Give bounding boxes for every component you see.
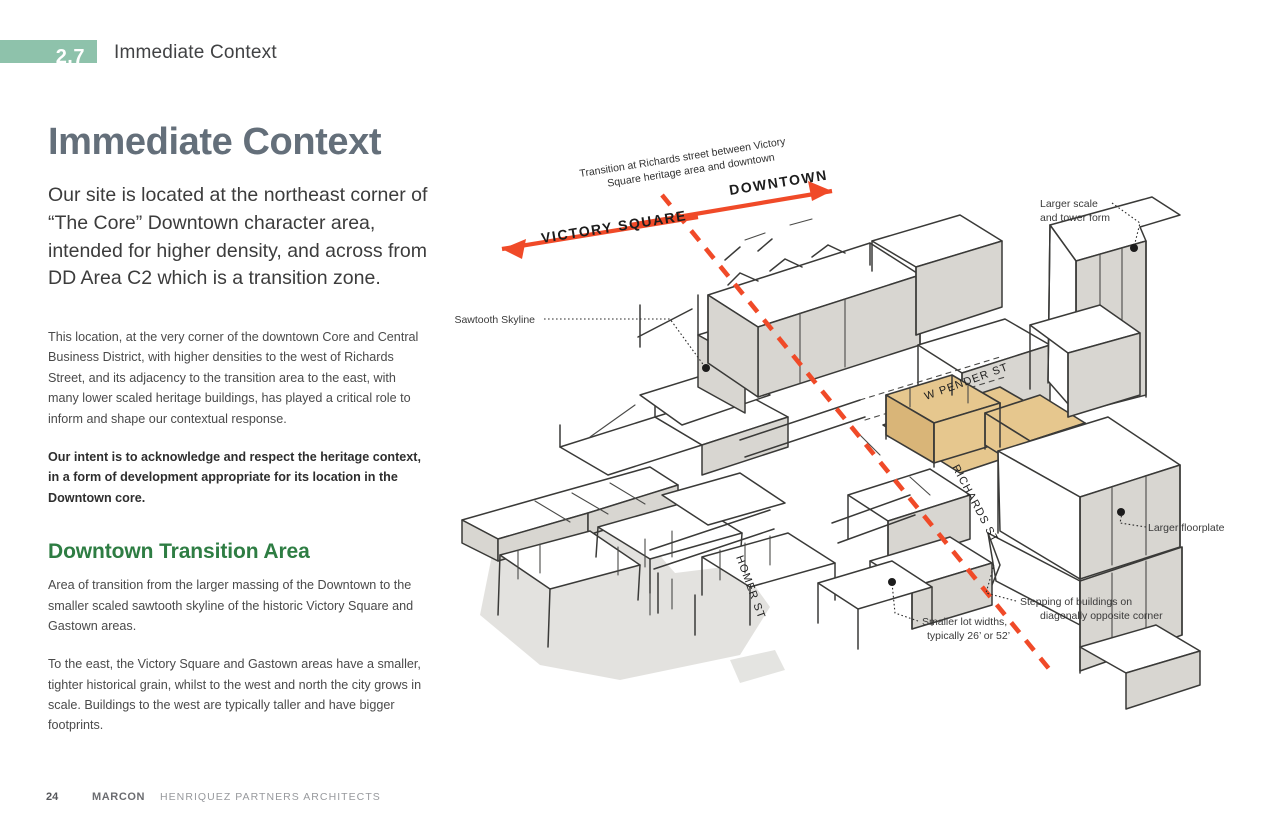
callout-larger-scale-line-1: Larger scale [1040, 198, 1098, 210]
body-paragraph-4: To the east, the Victory Square and Gast… [48, 654, 428, 736]
callout-lot-widths-line-2: typically 26’ or 52’ [927, 630, 1010, 642]
direction-label-victory-square: VICTORY SQUARE [540, 207, 688, 246]
context-axonometric-diagram: Transition at Richards street between Vi… [440, 95, 1280, 715]
header-section-number: 2.7 [0, 40, 97, 63]
callout-larger-floorplate-label: Larger floorplate [1148, 522, 1225, 534]
callout-stepping-line-1: Stepping of buildings on [1020, 596, 1132, 608]
page-footer: 24 MARCON HENRIQUEZ PARTNERS ARCHITECTS [46, 791, 381, 803]
body-paragraph-1: This location, at the very corner of the… [48, 327, 428, 429]
label-victory-square: VICTORY SQUARE [540, 207, 688, 246]
header-title: Immediate Context [114, 42, 277, 64]
text-column: Immediate Context Our site is located at… [48, 122, 428, 754]
body-paragraph-intent: Our intent is to acknowledge and respect… [48, 447, 428, 508]
footer-firm-name: HENRIQUEZ PARTNERS ARCHITECTS [160, 791, 381, 803]
callout-lot-widths-line-1: Smaller lot widths, [922, 616, 1007, 628]
body-paragraph-3: Area of transition from the larger massi… [48, 575, 428, 636]
intro-paragraph: Our site is located at the northeast cor… [48, 182, 428, 293]
callout-larger-scale-line-2: and tower form [1040, 212, 1110, 224]
callout-sawtooth-skyline: Sawtooth Skyline [454, 314, 710, 372]
section-subheading: Downtown Transition Area [48, 540, 428, 564]
footer-page-number: 24 [46, 791, 92, 803]
callout-sawtooth-label: Sawtooth Skyline [454, 314, 535, 326]
callout-stepping-line-2: diagonally opposite corner [1040, 610, 1163, 622]
footer-client-name: MARCON [92, 791, 160, 803]
page-title: Immediate Context [48, 122, 428, 162]
